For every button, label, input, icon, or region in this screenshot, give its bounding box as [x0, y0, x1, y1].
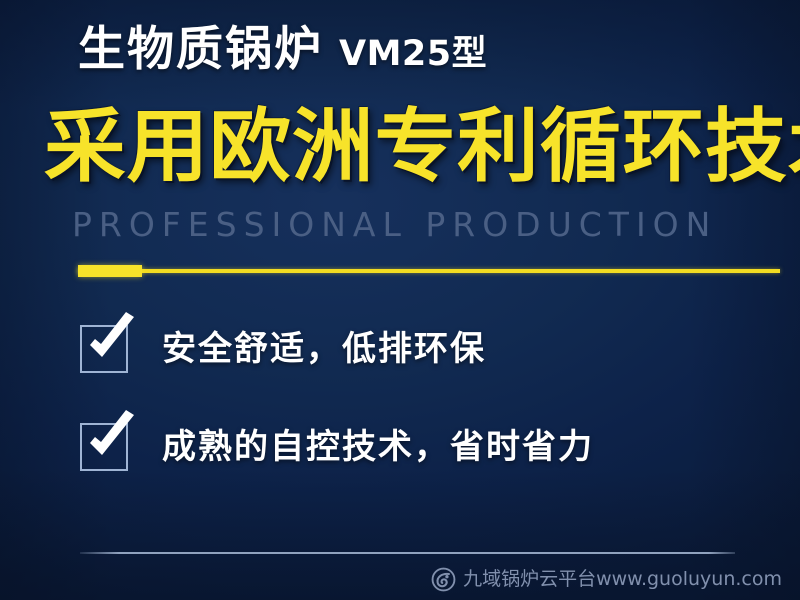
- checkbox-checked-icon: [80, 423, 128, 471]
- divider-line: [78, 269, 780, 273]
- feature-item: 安全舒适，低排环保: [80, 325, 594, 373]
- feature-item: 成熟的自控技术，省时省力: [80, 423, 594, 471]
- divider: [78, 265, 780, 277]
- feature-label: 安全舒适，低排环保: [162, 332, 486, 366]
- watermark: 九域锅炉云平台www.guoluyun.com: [431, 567, 782, 592]
- divider-block: [78, 265, 142, 277]
- headline: 采用欧洲专利循环技术: [44, 104, 799, 190]
- feature-list: 安全舒适，低排环保 成熟的自控技术，省时省力: [80, 325, 594, 471]
- footer-separator: [80, 552, 735, 554]
- product-model: VM25型: [339, 37, 487, 72]
- watermark-text: 九域锅炉云平台www.guoluyun.com: [463, 570, 782, 589]
- product-name: 生物质锅炉: [78, 26, 323, 73]
- promo-banner: 生物质锅炉 VM25型 采用欧洲专利循环技术 PROFESSIONAL PROD…: [0, 0, 800, 600]
- feature-label: 成熟的自控技术，省时省力: [162, 430, 594, 464]
- title-row: 生物质锅炉 VM25型: [78, 26, 487, 73]
- guoluyun-swirl-logo-icon: [431, 567, 456, 592]
- checkbox-checked-icon: [80, 325, 128, 373]
- subtitle-english: PROFESSIONAL PRODUCTION: [72, 208, 717, 241]
